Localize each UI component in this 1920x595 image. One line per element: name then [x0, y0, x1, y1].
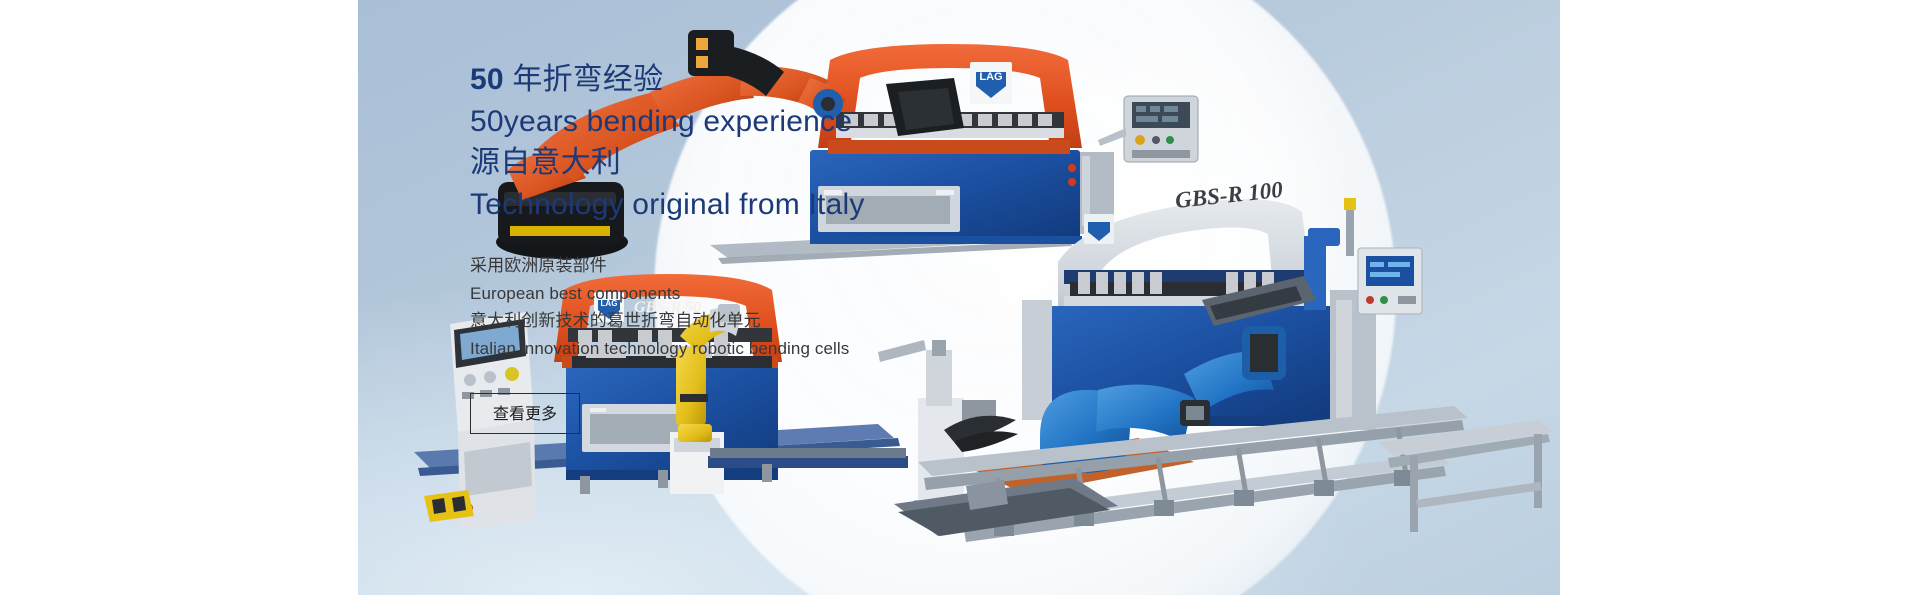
headline-cn-1: 50 年折弯经验 — [470, 60, 1110, 102]
subhead-en-1: European best components — [470, 280, 1110, 308]
headline-en-1: 50years bending experience — [470, 102, 1110, 144]
hmi-panel-right — [1358, 248, 1422, 314]
hero-banner: LAG — [358, 0, 1560, 595]
headline-en-2: Technology original from Italy — [470, 185, 1110, 227]
subheadline-block: 采用欧洲原装部件 European best components 意大利创新技… — [470, 252, 1110, 362]
hero-copy: 50 年折弯经验 50years bending experience 源自意大… — [470, 60, 1110, 434]
headline-cn-2: 源自意大利 — [470, 143, 1110, 185]
subhead-en-2: Italian innovation technology robotic be… — [470, 335, 1110, 363]
headline-block: 50 年折弯经验 50years bending experience 源自意大… — [470, 60, 1110, 226]
view-more-button[interactable]: 查看更多 — [470, 393, 580, 434]
subhead-cn-2: 意大利创新技术的葛世折弯自动化单元 — [470, 307, 1110, 335]
subhead-cn-1: 采用欧洲原装部件 — [470, 252, 1110, 280]
